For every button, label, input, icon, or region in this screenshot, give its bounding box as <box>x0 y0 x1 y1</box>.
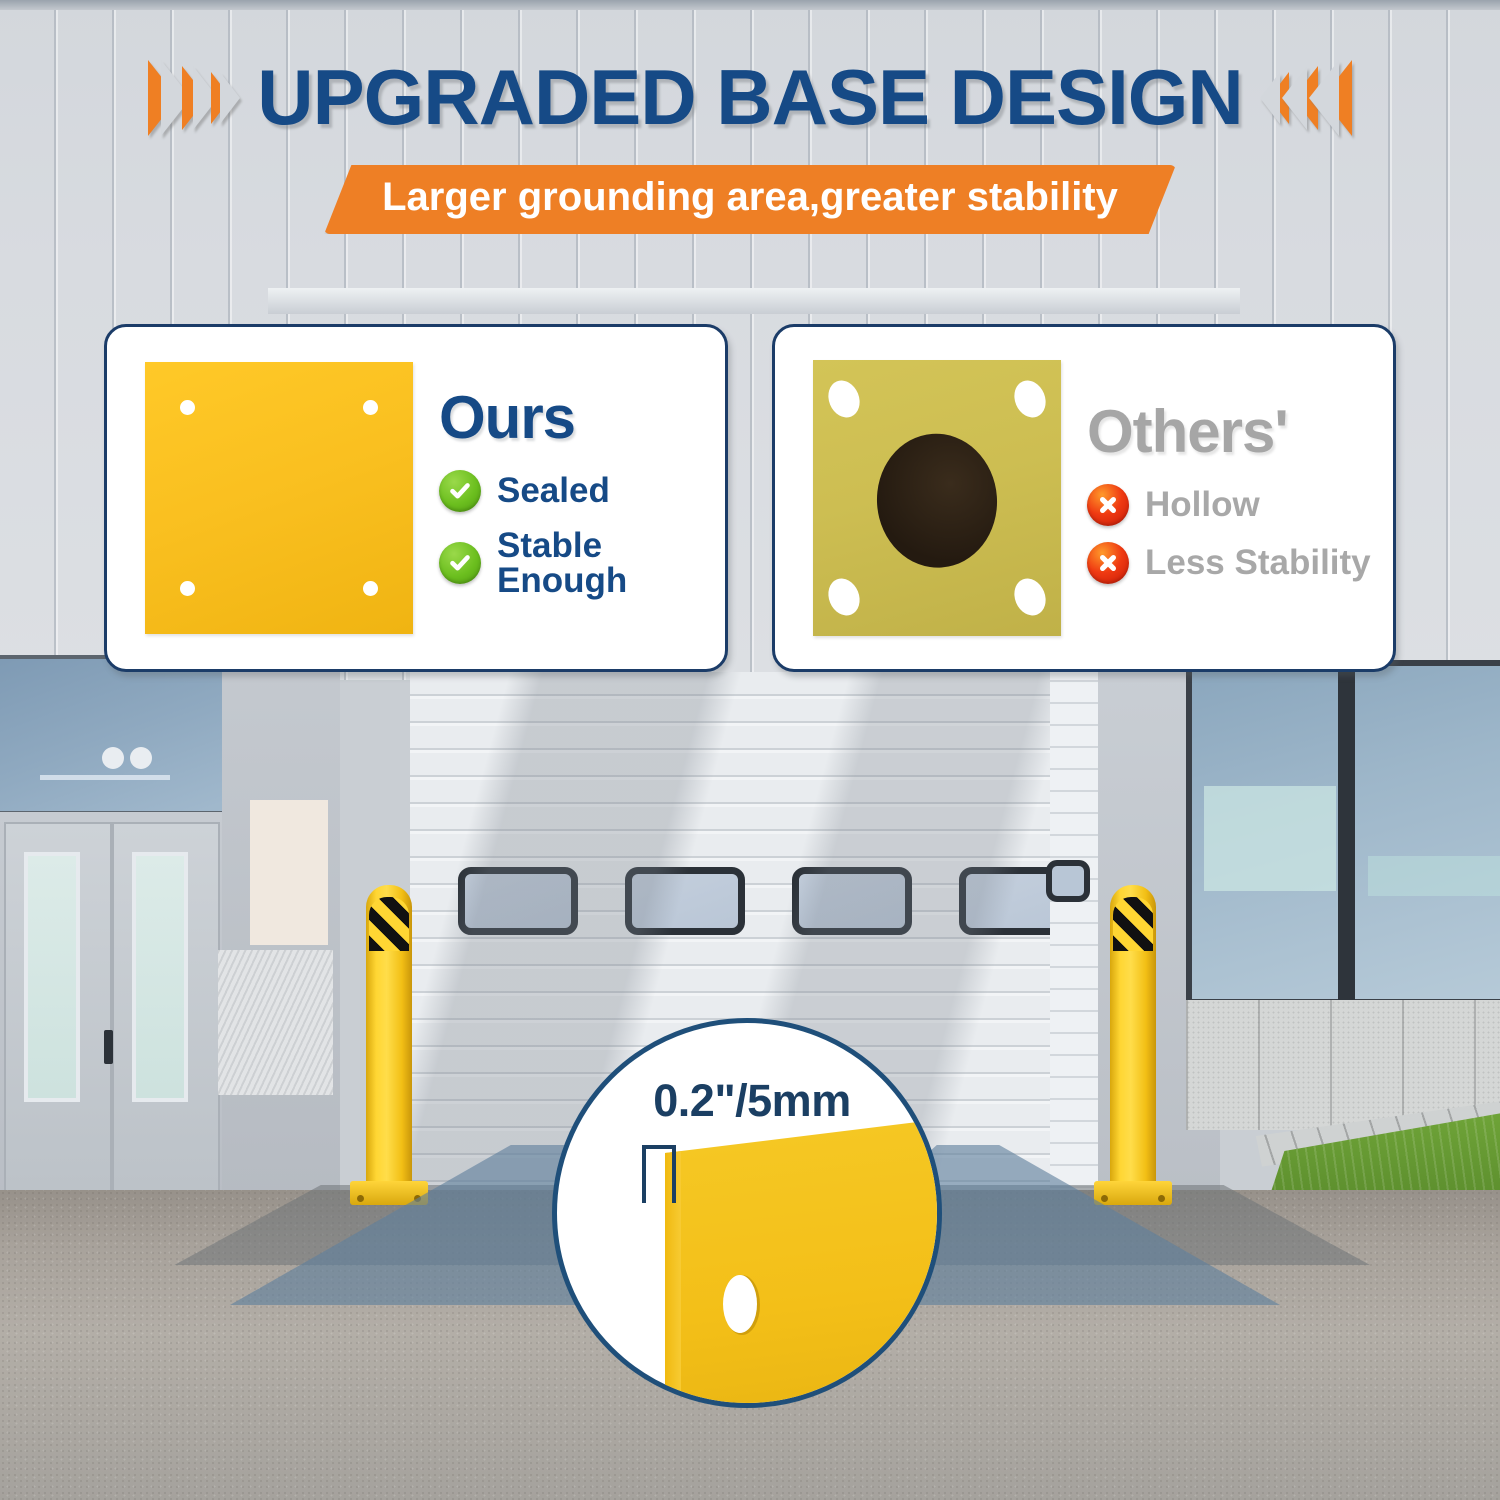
others-content: Others' Hollow Less Stability <box>1061 397 1393 600</box>
bolt-hole-icon <box>1009 574 1051 620</box>
window-reflection <box>40 775 170 780</box>
check-circle-icon <box>439 470 481 512</box>
page-title: UPGRADED BASE DESIGN <box>257 52 1242 143</box>
card-others: Others' Hollow Less Stability <box>772 324 1396 672</box>
door-glass-panel <box>24 852 80 1102</box>
door-glass-panel <box>132 852 188 1102</box>
feature-label: Sealed <box>497 473 610 508</box>
right-curtain-window <box>1186 660 1500 1005</box>
bolt-hole-icon <box>363 581 378 596</box>
header-banner: UPGRADED BASE DESIGN Larger grounding ar… <box>0 52 1500 234</box>
ceiling-lamp-icon <box>130 747 152 769</box>
check-circle-icon <box>439 542 481 584</box>
safety-bollard-right <box>1110 885 1156 1203</box>
bolt-hole-icon <box>823 376 865 422</box>
subtitle-banner: Larger grounding area,greater stability <box>324 165 1176 234</box>
feature-label: Hollow <box>1145 487 1260 522</box>
feature-row: Hollow <box>1087 484 1393 526</box>
chevrons-left-icon <box>1269 60 1352 136</box>
others-base-plate-image <box>813 360 1061 636</box>
ceiling-lamp-icon <box>102 747 124 769</box>
caliper-dimension-icon <box>642 1145 676 1203</box>
bolt-hole-icon <box>1009 376 1051 422</box>
hazard-stripe-icon <box>369 897 409 951</box>
bolt-hole-icon <box>723 1275 757 1333</box>
hazard-stripe-icon <box>1113 897 1153 951</box>
feature-label: Stable Enough <box>497 528 725 598</box>
x-circle-icon <box>1087 484 1129 526</box>
feature-row: Stable Enough <box>439 528 725 598</box>
bolt-hole-icon <box>363 400 378 415</box>
zoom-callout-circle: 0.2"/5mm <box>552 1018 942 1408</box>
roof-edge <box>0 0 1500 10</box>
chevrons-right-icon <box>148 60 231 136</box>
card-ours: Ours Sealed Stable Enough <box>104 324 728 672</box>
wall-patch-cream <box>250 800 328 945</box>
entry-door-right <box>112 822 220 1194</box>
feature-row: Sealed <box>439 470 725 512</box>
card-title-ours: Ours <box>439 383 725 452</box>
x-circle-icon <box>1087 542 1129 584</box>
feature-label: Less Stability <box>1145 545 1371 580</box>
wall-patch-textured <box>218 950 333 1095</box>
window-reflection <box>1368 856 1500 896</box>
right-metal-siding <box>1050 660 1102 1197</box>
center-hollow-hole <box>872 430 1001 572</box>
window-reflection <box>1204 786 1336 891</box>
ours-base-plate-image <box>145 362 413 634</box>
entry-door-left <box>4 822 112 1194</box>
bolt-hole-icon <box>180 400 195 415</box>
safety-bollard-left <box>366 885 412 1203</box>
window-mullion <box>1338 660 1355 1017</box>
title-row: UPGRADED BASE DESIGN <box>0 52 1500 143</box>
garage-door-lintel <box>268 288 1240 314</box>
measurement-label: 0.2"/5mm <box>557 1075 942 1127</box>
bolt-hole-icon <box>823 574 865 620</box>
feature-row: Less Stability <box>1087 542 1393 584</box>
plate-edge-closeup <box>665 1112 942 1408</box>
bolt-hole-icon <box>180 581 195 596</box>
subtitle-wrap: Larger grounding area,greater stability <box>0 165 1500 234</box>
small-dock-window <box>1046 860 1090 902</box>
ours-content: Ours Sealed Stable Enough <box>413 383 725 614</box>
bollard-base-plate <box>1094 1181 1172 1205</box>
door-handle-icon <box>104 1030 113 1064</box>
card-title-others: Others' <box>1087 397 1393 466</box>
